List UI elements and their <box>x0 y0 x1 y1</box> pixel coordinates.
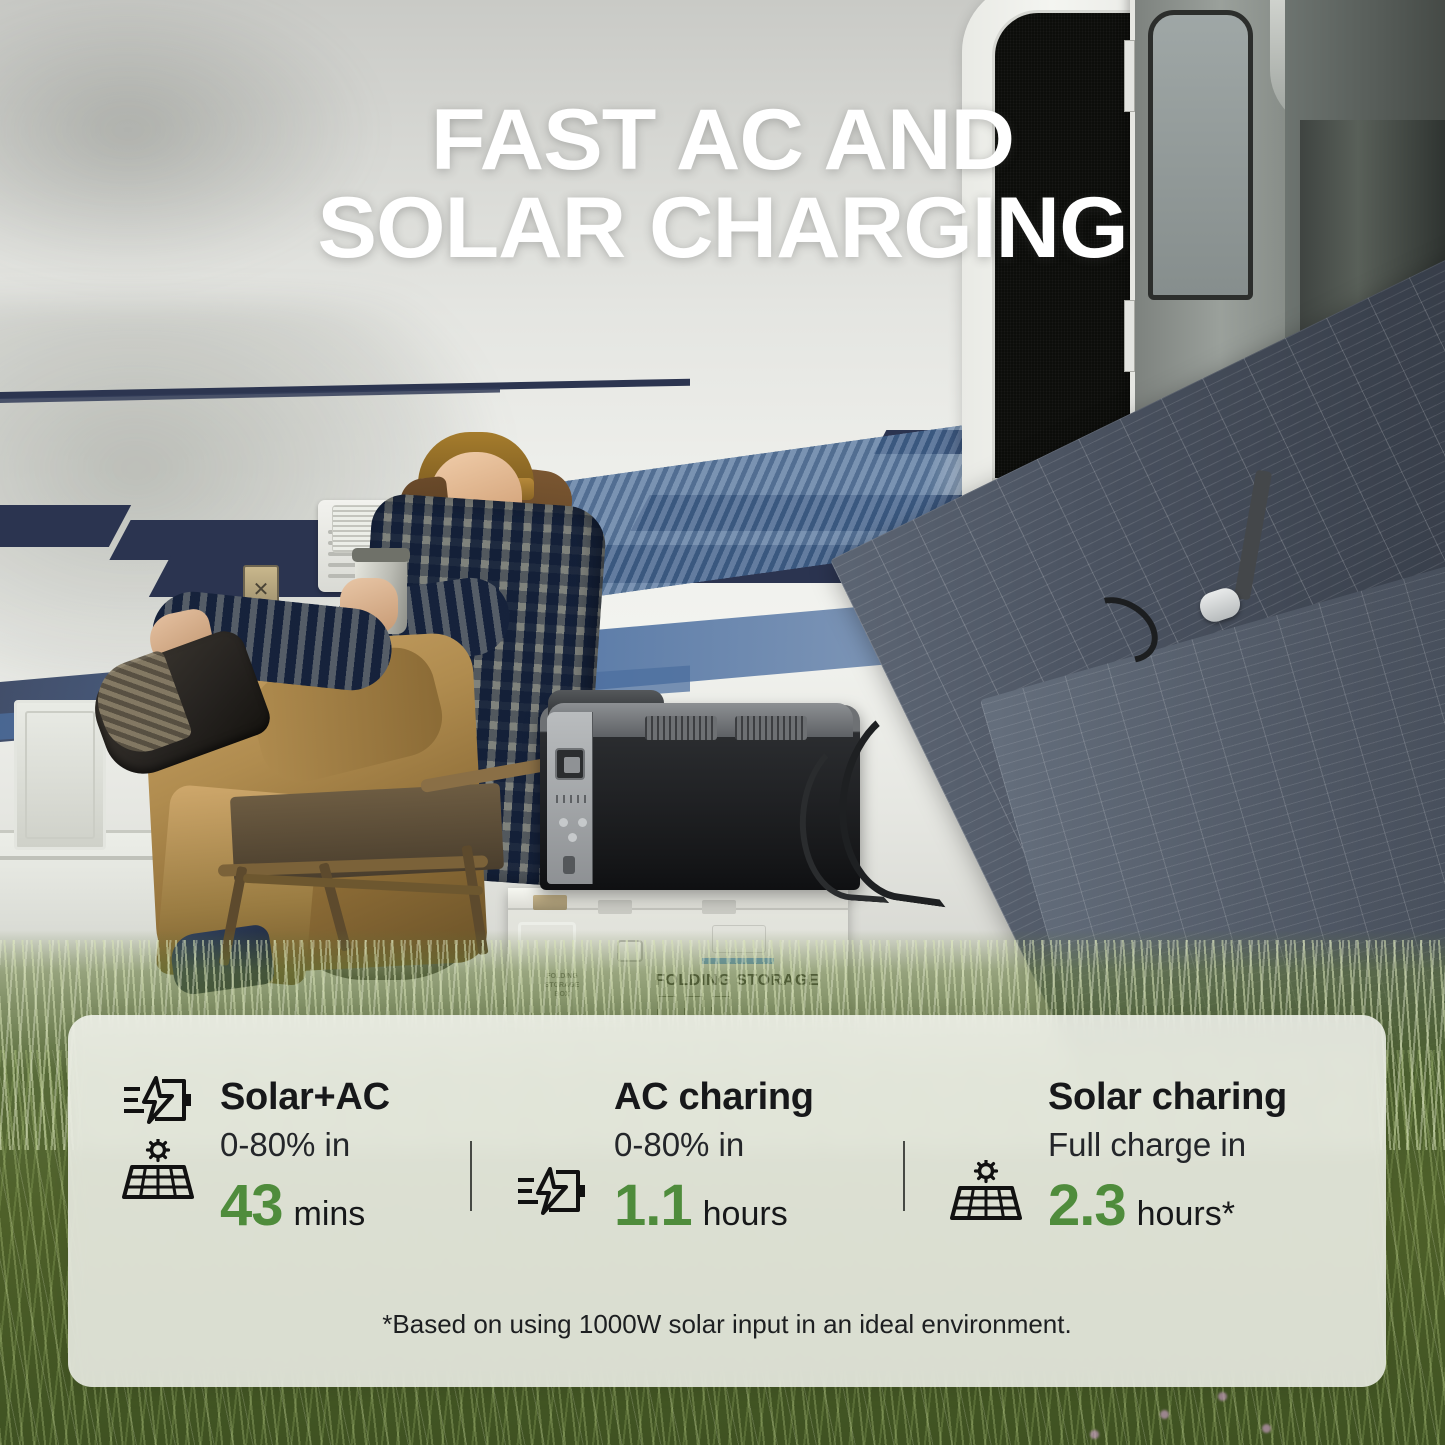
power-station-display <box>555 748 585 780</box>
stat-subtitle: Full charge in <box>1048 1119 1287 1171</box>
stat-solar-charging: Solar charing Full charge in 2.3 hours* <box>902 1015 1386 1265</box>
stat-text: Solar+AC 0-80% in 43 mins <box>206 1075 390 1265</box>
stat-icons <box>110 1075 206 1265</box>
headline-line-1: FAST AC AND <box>0 96 1445 184</box>
wildflower <box>1160 1410 1169 1419</box>
power-station-port <box>563 856 575 874</box>
stat-subtitle: 0-80% in <box>220 1119 390 1171</box>
power-station-button <box>568 833 577 842</box>
wildflower <box>1262 1424 1271 1433</box>
stat-value-row: 1.1 hours <box>614 1175 814 1237</box>
stat-title: Solar+AC <box>220 1075 390 1119</box>
power-station-vent <box>735 716 807 740</box>
rv-storage-hatch <box>14 700 106 850</box>
stat-unit: hours <box>703 1195 788 1234</box>
rv-graphic-shape <box>0 505 131 547</box>
stat-unit: mins <box>294 1195 366 1234</box>
travel-mug-lid <box>352 548 410 562</box>
power-station-leds <box>556 795 586 803</box>
stat-ac-charging: AC charing 0-80% in 1.1 hours <box>470 1015 902 1265</box>
stat-icons <box>504 1075 600 1265</box>
stat-text: Solar charing Full charge in 2.3 hours* <box>1034 1075 1287 1265</box>
stat-solar-plus-ac: Solar+AC 0-80% in 43 mins <box>68 1015 470 1265</box>
power-station-button <box>559 818 568 827</box>
stats-columns: Solar+AC 0-80% in 43 mins <box>68 1015 1386 1265</box>
wildflower <box>1218 1392 1227 1401</box>
wildflower <box>1090 1430 1099 1439</box>
headline-line-2: SOLAR CHARGING <box>0 184 1445 272</box>
power-station-button <box>578 818 587 827</box>
power-station-vent <box>645 716 717 740</box>
storage-box-hinge <box>598 900 632 914</box>
stat-value: 1.1 <box>614 1175 692 1237</box>
stat-unit: hours* <box>1137 1195 1235 1234</box>
rv-door-hinge <box>1124 300 1135 372</box>
stat-subtitle: 0-80% in <box>614 1119 814 1171</box>
stat-value-row: 43 mins <box>220 1175 390 1237</box>
stat-title: AC charing <box>614 1075 814 1119</box>
solar-panel-icon <box>948 1160 1024 1222</box>
solar-panel-icon <box>120 1139 196 1201</box>
promo-image: FOLDING STORAGE BOX FOLDING STORAGE FAST… <box>0 0 1445 1445</box>
fast-charge-battery-icon <box>122 1075 194 1125</box>
storage-box-latch <box>533 895 567 910</box>
fast-charge-battery-icon <box>516 1166 588 1216</box>
stat-value: 43 <box>220 1175 283 1237</box>
stat-icons <box>938 1075 1034 1265</box>
stat-value: 2.3 <box>1048 1175 1126 1237</box>
stat-text: AC charing 0-80% in 1.1 hours <box>600 1075 814 1265</box>
stat-title: Solar charing <box>1048 1075 1287 1119</box>
stats-panel: Solar+AC 0-80% in 43 mins <box>68 1015 1386 1387</box>
stat-value-row: 2.3 hours* <box>1048 1175 1287 1237</box>
headline: FAST AC AND SOLAR CHARGING <box>0 96 1445 272</box>
footnote: *Based on using 1000W solar input in an … <box>68 1309 1386 1340</box>
storage-box-hinge <box>702 900 736 914</box>
